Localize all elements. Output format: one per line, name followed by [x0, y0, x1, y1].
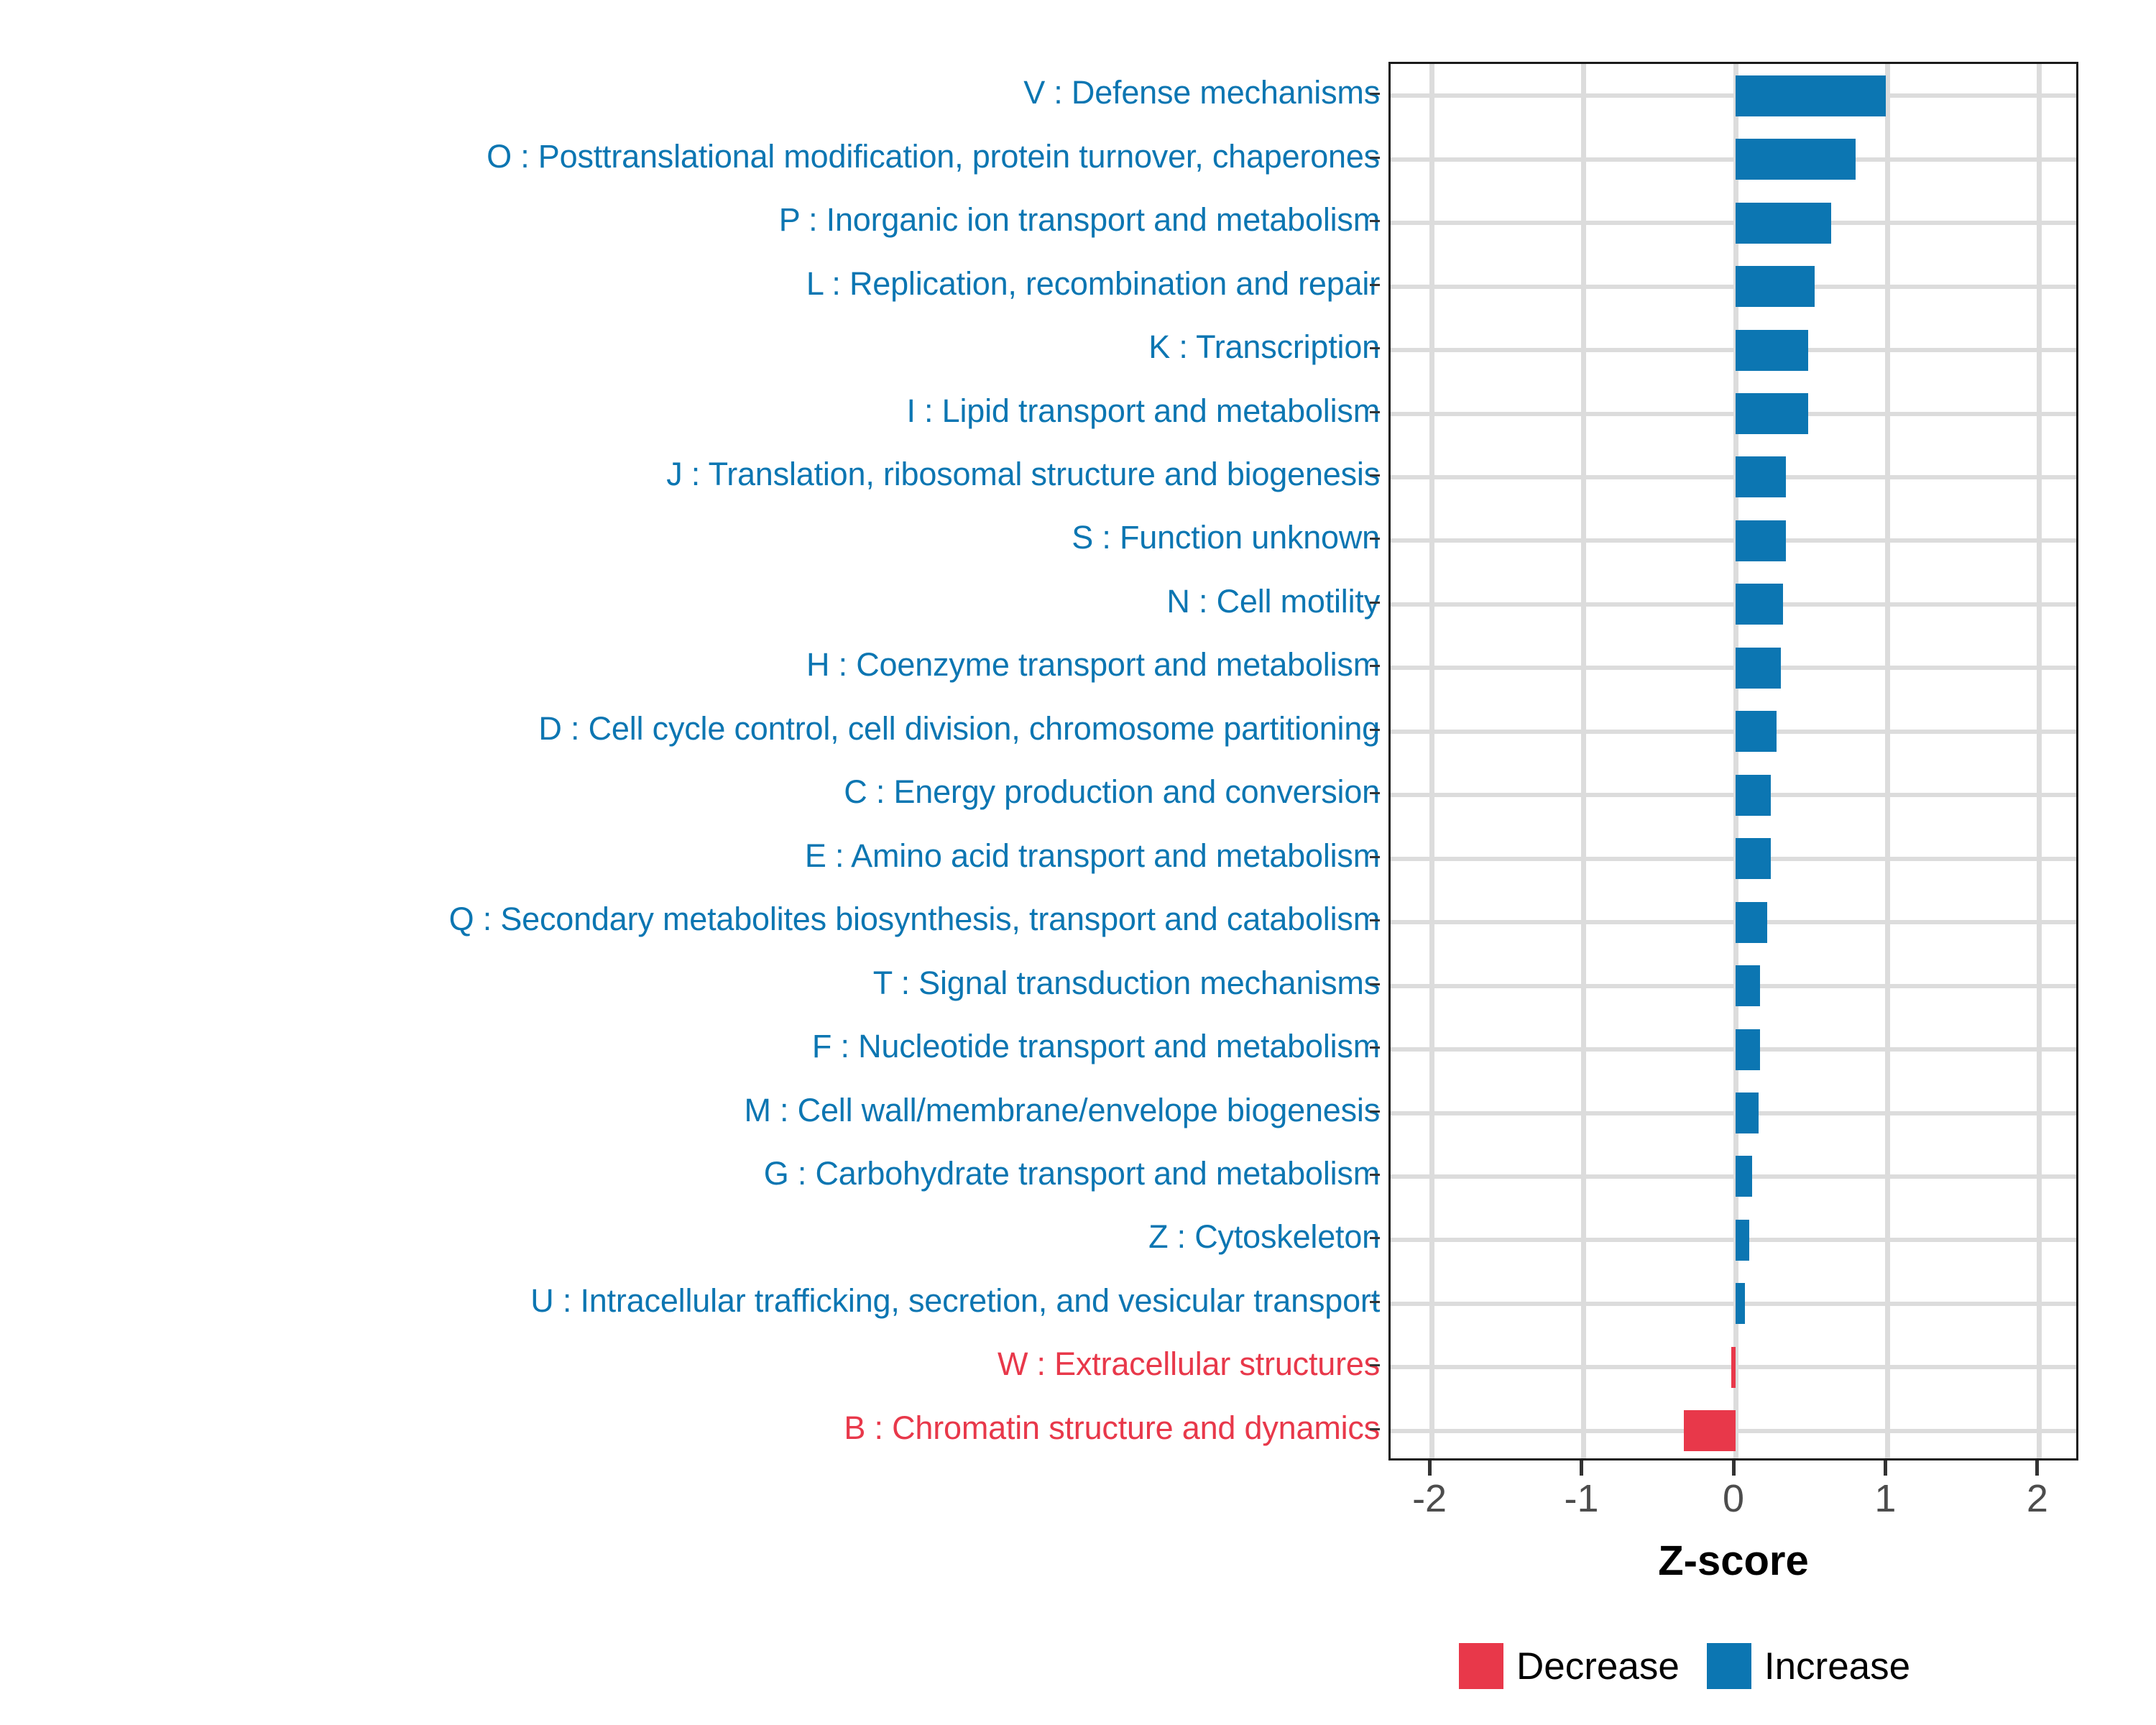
x-tick-mark — [1580, 1460, 1583, 1476]
y-gridline — [1391, 1174, 2076, 1179]
y-gridline — [1391, 793, 2076, 797]
bar[interactable] — [1736, 203, 1831, 244]
category-label: T : Signal transduction mechanisms — [14, 967, 1380, 999]
x-tick-label: -1 — [1539, 1479, 1625, 1518]
category-label: F : Nucleotide transport and metabolism — [14, 1030, 1380, 1062]
bar[interactable] — [1736, 902, 1767, 943]
y-tick-mark — [1370, 1046, 1380, 1049]
bar[interactable] — [1736, 266, 1815, 307]
cog-zscore-bar-chart: V : Defense mechanismsO : Posttranslatio… — [0, 0, 2156, 1725]
y-gridline — [1391, 538, 2076, 543]
x-tick-label: 0 — [1690, 1479, 1777, 1518]
bar[interactable] — [1736, 139, 1856, 180]
x-tick-mark — [1884, 1460, 1887, 1476]
x-axis-title: Z-score — [1388, 1540, 2078, 1582]
y-tick-mark — [1370, 602, 1380, 604]
legend-swatch-increase-icon — [1707, 1643, 1751, 1689]
y-gridline — [1391, 412, 2076, 416]
legend-item-decrease[interactable]: Decrease — [1459, 1643, 1680, 1689]
bar[interactable] — [1736, 584, 1783, 625]
category-label: U : Intracellular trafficking, secretion… — [14, 1284, 1380, 1317]
category-label: M : Cell wall/membrane/envelope biogenes… — [14, 1094, 1380, 1126]
y-gridline — [1391, 730, 2076, 734]
category-label: G : Carbohydrate transport and metabolis… — [14, 1157, 1380, 1190]
y-gridline — [1391, 157, 2076, 162]
bar[interactable] — [1736, 775, 1771, 816]
bar[interactable] — [1684, 1410, 1736, 1451]
x-tick-label: 2 — [1994, 1479, 2081, 1518]
y-gridline — [1391, 602, 2076, 607]
bar[interactable] — [1736, 965, 1760, 1006]
y-gridline — [1391, 666, 2076, 670]
y-tick-mark — [1370, 792, 1380, 794]
y-gridline — [1391, 1238, 2076, 1242]
category-label-column: V : Defense mechanismsO : Posttranslatio… — [0, 62, 1380, 1460]
y-gridline — [1391, 984, 2076, 988]
x-gridline — [1885, 64, 1890, 1458]
y-tick-mark — [1370, 1110, 1380, 1113]
y-gridline — [1391, 285, 2076, 289]
y-gridline — [1391, 1302, 2076, 1306]
y-tick-mark — [1370, 1301, 1380, 1303]
category-label: O : Posttranslational modification, prot… — [14, 140, 1380, 172]
y-tick-mark — [1370, 983, 1380, 985]
bar[interactable] — [1736, 75, 1886, 116]
x-tick-mark — [1428, 1460, 1432, 1476]
y-gridline — [1391, 857, 2076, 861]
category-label: W : Extracellular structures — [14, 1348, 1380, 1380]
y-gridline — [1391, 475, 2076, 479]
y-tick-mark — [1370, 729, 1380, 731]
y-gridline — [1391, 1047, 2076, 1052]
y-tick-mark — [1370, 220, 1380, 222]
category-label: B : Chromatin structure and dynamics — [14, 1412, 1380, 1444]
y-gridline — [1391, 221, 2076, 225]
bar[interactable] — [1736, 393, 1808, 434]
y-gridline — [1391, 93, 2076, 98]
y-tick-mark — [1370, 474, 1380, 477]
bar[interactable] — [1736, 1092, 1759, 1133]
category-label: S : Function unknown — [14, 521, 1380, 553]
bar[interactable] — [1736, 456, 1786, 497]
x-gridline — [1429, 64, 1434, 1458]
y-tick-mark — [1370, 1428, 1380, 1430]
category-label: Q : Secondary metabolites biosynthesis, … — [14, 903, 1380, 935]
y-tick-mark — [1370, 538, 1380, 540]
bar[interactable] — [1731, 1347, 1736, 1388]
bar[interactable] — [1736, 330, 1808, 371]
y-gridline — [1391, 920, 2076, 924]
category-label: V : Defense mechanisms — [14, 76, 1380, 109]
plot-panel — [1388, 62, 2078, 1460]
bar[interactable] — [1736, 520, 1786, 561]
bar[interactable] — [1736, 1220, 1749, 1261]
category-label: L : Replication, recombination and repai… — [14, 267, 1380, 300]
y-tick-mark — [1370, 919, 1380, 921]
bar[interactable] — [1736, 1156, 1752, 1197]
bar[interactable] — [1736, 648, 1781, 689]
x-tick-label: -2 — [1386, 1479, 1473, 1518]
bar[interactable] — [1736, 838, 1771, 879]
bar[interactable] — [1736, 711, 1777, 752]
category-label: H : Coenzyme transport and metabolism — [14, 648, 1380, 681]
legend-swatch-decrease-icon — [1459, 1643, 1503, 1689]
y-tick-mark — [1370, 411, 1380, 413]
bar[interactable] — [1736, 1029, 1760, 1070]
y-tick-mark — [1370, 1237, 1380, 1239]
y-tick-mark — [1370, 665, 1380, 667]
y-tick-mark — [1370, 93, 1380, 95]
x-tick-mark — [2035, 1460, 2039, 1476]
x-tick-mark — [1732, 1460, 1736, 1476]
category-label: C : Energy production and conversion — [14, 776, 1380, 808]
legend-item-increase[interactable]: Increase — [1707, 1643, 1910, 1689]
category-label: D : Cell cycle control, cell division, c… — [14, 712, 1380, 745]
bar[interactable] — [1736, 1283, 1745, 1324]
y-tick-mark — [1370, 347, 1380, 349]
category-label: I : Lipid transport and metabolism — [14, 395, 1380, 427]
legend-label-decrease: Decrease — [1516, 1647, 1680, 1685]
category-label: Z : Cytoskeleton — [14, 1220, 1380, 1253]
x-gridline — [2037, 64, 2042, 1458]
legend: Decrease Increase — [1459, 1637, 2156, 1695]
y-tick-mark — [1370, 157, 1380, 159]
plot-area — [1391, 64, 2076, 1458]
category-label: J : Translation, ribosomal structure and… — [14, 458, 1380, 490]
y-tick-mark — [1370, 284, 1380, 286]
y-tick-mark — [1370, 1364, 1380, 1366]
category-label: N : Cell motility — [14, 585, 1380, 617]
legend-label-increase: Increase — [1764, 1647, 1910, 1685]
y-gridline — [1391, 348, 2076, 352]
category-label: E : Amino acid transport and metabolism — [14, 839, 1380, 872]
y-gridline — [1391, 1111, 2076, 1115]
x-gridline — [1581, 64, 1586, 1458]
y-tick-mark — [1370, 856, 1380, 858]
y-tick-mark — [1370, 1174, 1380, 1176]
x-tick-label: 1 — [1842, 1479, 1928, 1518]
category-label: K : Transcription — [14, 331, 1380, 363]
category-label: P : Inorganic ion transport and metaboli… — [14, 203, 1380, 236]
